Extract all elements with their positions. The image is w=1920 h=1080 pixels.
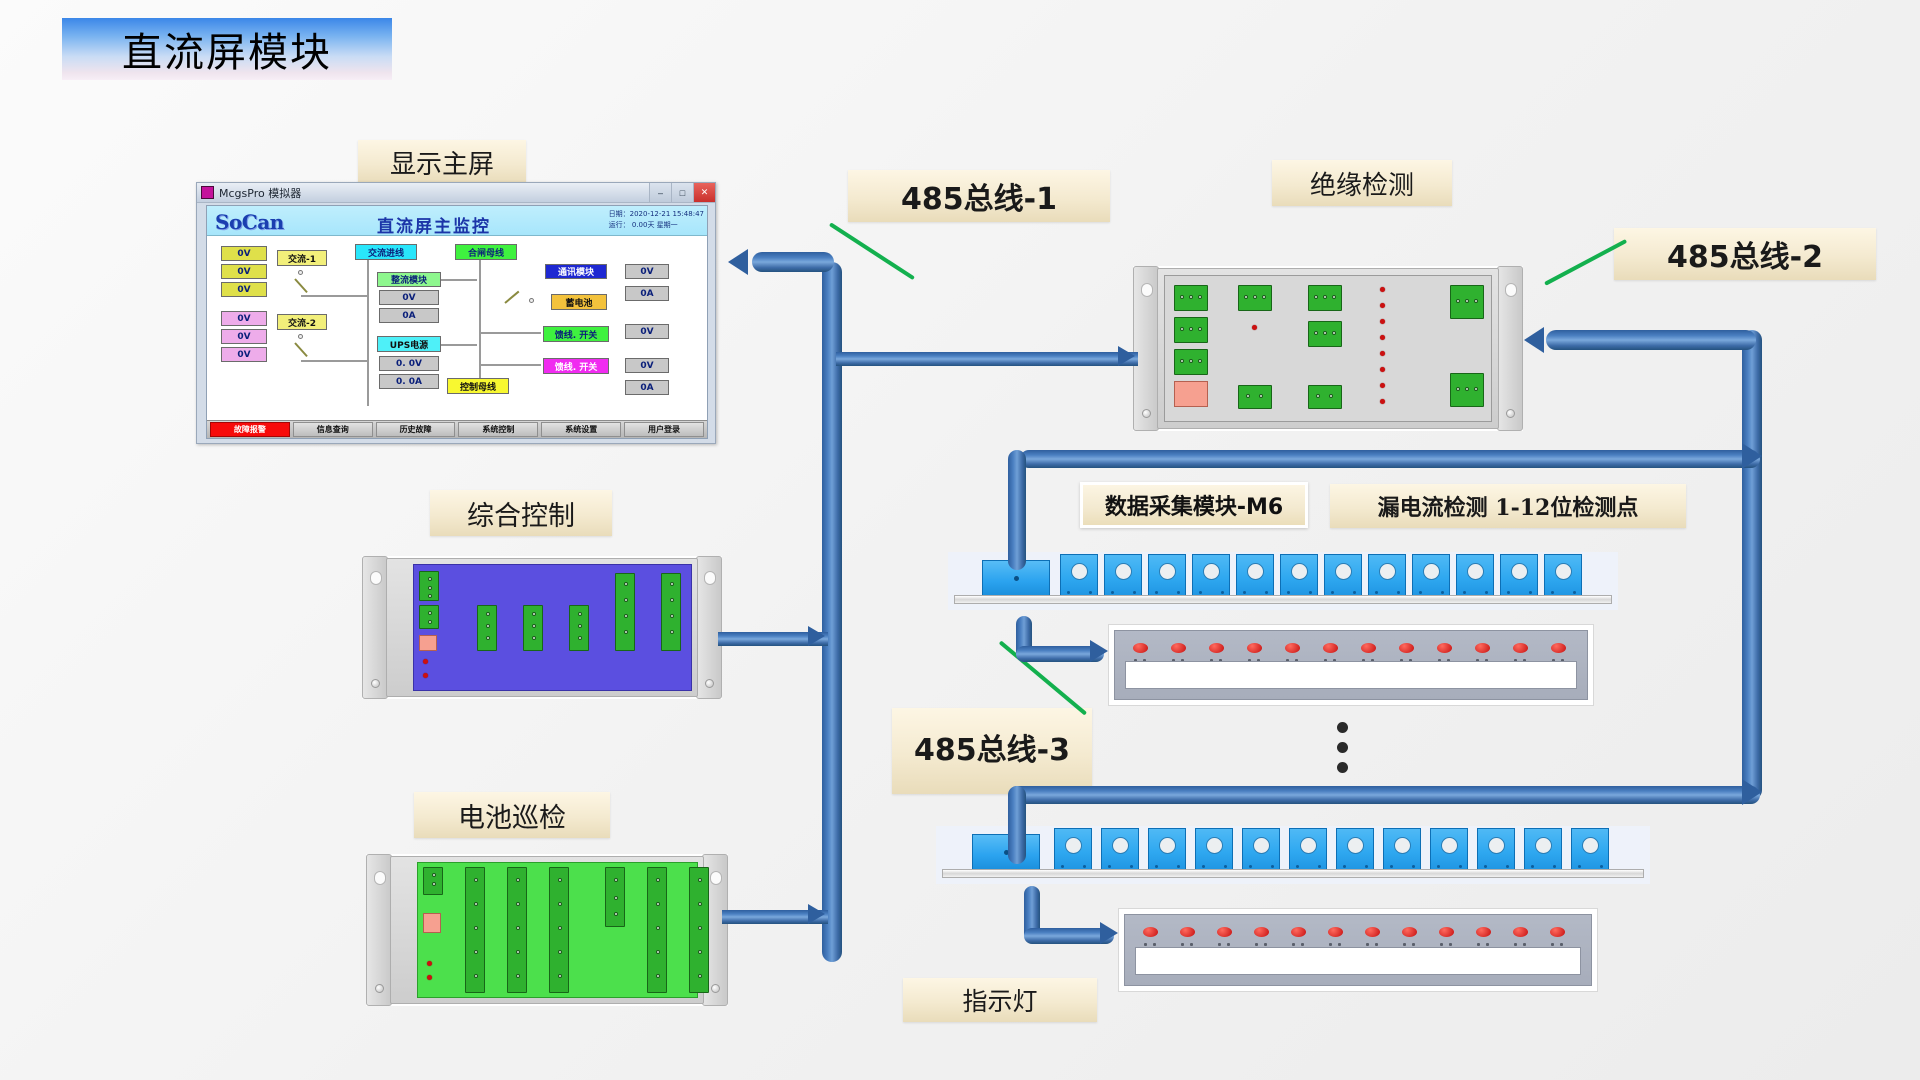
ac2-value-2: 0V — [221, 329, 267, 344]
rack-ear-left — [366, 854, 392, 1006]
terminal-block — [1238, 385, 1272, 409]
bus-2-trunk — [1742, 330, 1762, 800]
ac2-switch-pivot — [298, 334, 303, 339]
ac1-value-1: 0V — [221, 246, 267, 261]
ct-foot — [1133, 591, 1136, 594]
rack-ear-left — [362, 556, 388, 699]
ct-sensor[interactable] — [1101, 828, 1139, 872]
bus-1-arrow-insulation — [1118, 346, 1135, 366]
status-led — [1380, 319, 1385, 324]
hmi-window-title: McgsPro 模拟器 — [219, 185, 301, 201]
ct-sensor-aperture — [1555, 563, 1572, 580]
terminal-block — [1450, 285, 1484, 319]
ac-incoming-label: 交流进线 — [355, 244, 417, 260]
led-marker — [1144, 943, 1147, 946]
ct-sensor-aperture — [1112, 837, 1129, 854]
caption-insulation: 绝缘检测 — [1272, 160, 1452, 206]
ct-foot — [1529, 591, 1532, 594]
ct-foot — [1287, 591, 1290, 594]
bus-2-to-insulation — [1546, 330, 1756, 350]
terminal-block — [1174, 349, 1208, 375]
ct-foot — [1108, 865, 1111, 868]
status-led — [1380, 335, 1385, 340]
label-strip — [1125, 661, 1577, 689]
terminal-block — [569, 605, 589, 651]
status-led — [1380, 383, 1385, 388]
ct-foot — [1506, 865, 1509, 868]
ct-sensor-aperture — [1115, 563, 1132, 580]
bus-1-trunk — [822, 262, 842, 962]
ct-sensor-aperture — [1291, 563, 1308, 580]
closing-bus-line — [479, 260, 481, 378]
ct-foot — [1419, 591, 1422, 594]
feeder-switch-2-label: 馈线. 开关 — [543, 358, 609, 374]
tab-system-control[interactable]: 系统控制 — [458, 422, 538, 437]
led-marker — [1514, 943, 1517, 946]
ct-foot — [1249, 865, 1252, 868]
ct-sensor[interactable] — [1430, 828, 1468, 872]
close-icon[interactable]: ✕ — [693, 183, 715, 202]
ct-sensor-aperture — [1488, 837, 1505, 854]
control-rack-body — [386, 558, 698, 697]
ct-sensor[interactable] — [1104, 554, 1142, 598]
battery-switch-blade — [504, 291, 519, 304]
led-marker — [1477, 943, 1480, 946]
ct-foot — [1484, 865, 1487, 868]
dip-switch[interactable] — [423, 913, 441, 933]
ct-sensor[interactable] — [1148, 554, 1186, 598]
ct-foot — [1365, 865, 1368, 868]
ct-foot — [1343, 865, 1346, 868]
ct-sensor[interactable] — [1236, 554, 1274, 598]
terminal-block — [661, 573, 681, 651]
led-marker — [1560, 943, 1563, 946]
led-panel-face — [1124, 914, 1592, 986]
led-marker — [1440, 943, 1443, 946]
led-marker — [1486, 943, 1489, 946]
tab-user-login[interactable]: 用户登录 — [624, 422, 704, 437]
ups-current: 0. 0A — [379, 374, 439, 389]
ct-foot — [1177, 591, 1180, 594]
led-marker — [1218, 943, 1221, 946]
din-rail — [954, 595, 1612, 604]
right-value-5: 0A — [625, 380, 669, 395]
insulation-rack-body — [1157, 268, 1499, 429]
battery-inspection-module[interactable] — [366, 854, 728, 1006]
ct-sensor-aperture — [1582, 837, 1599, 854]
ups-label: UPS电源 — [377, 336, 441, 352]
ct-foot — [1221, 591, 1224, 594]
terminal-block — [477, 605, 497, 651]
ct-foot — [1573, 591, 1576, 594]
ct-foot — [1441, 591, 1444, 594]
indicator-led — [1437, 643, 1452, 653]
ac1-value-2: 0V — [221, 264, 267, 279]
ct-sensor[interactable] — [1054, 828, 1092, 872]
status-led — [423, 659, 428, 664]
feeder-switch-1-label: 馈线. 开关 — [543, 326, 609, 342]
indicator-led-panel-bottom — [1118, 908, 1598, 992]
ac1-switch-pivot — [298, 270, 303, 275]
ct-sensor-aperture — [1159, 563, 1176, 580]
feeder-1-wire — [479, 332, 541, 334]
battery-rack-body — [390, 856, 704, 1004]
ct-foot — [1463, 591, 1466, 594]
terminal-block — [1174, 317, 1208, 343]
indicator-led — [1171, 643, 1186, 653]
ct-sensor[interactable] — [1242, 828, 1280, 872]
indicator-led — [1402, 927, 1417, 937]
ct-foot — [1437, 865, 1440, 868]
tab-info-query[interactable]: 信息查询 — [293, 422, 373, 437]
terminal-block — [615, 573, 635, 651]
app-icon — [201, 186, 214, 199]
ct-sensor-aperture — [1247, 563, 1264, 580]
caption-bus-3: 485总线-3 — [892, 708, 1092, 794]
indicator-led — [1476, 927, 1491, 937]
bus-2-drop-bottom — [1008, 786, 1026, 864]
ct-foot — [1271, 865, 1274, 868]
indicator-led — [1365, 927, 1380, 937]
status-led — [1380, 367, 1385, 372]
label-strip — [1135, 947, 1581, 975]
control-bus-label: 控制母线 — [447, 378, 509, 394]
status-led — [423, 673, 428, 678]
hmi-header: SoCan 直流屏主监控 日期：2020-12-21 15:48:47 运行： … — [207, 206, 707, 236]
hmi-window[interactable]: McgsPro 模拟器 – □ ✕ SoCan 直流屏主监控 日期：2020-1… — [196, 182, 716, 444]
indicator-led — [1285, 643, 1300, 653]
tab-fault-alarm[interactable]: 故障报警 — [210, 422, 290, 437]
led-marker — [1403, 943, 1406, 946]
ct-sensor[interactable] — [1544, 554, 1582, 598]
led-marker — [1264, 943, 1267, 946]
ct-foot — [1296, 865, 1299, 868]
dip-switch[interactable] — [419, 635, 437, 651]
battery-label: 蓄电池 — [551, 294, 607, 310]
hmi-date-line: 日期：2020-12-21 15:48:47 — [609, 209, 704, 220]
indicator-led — [1180, 927, 1195, 937]
hmi-titlebar: McgsPro 模拟器 – □ ✕ — [197, 183, 715, 203]
ups-out-wire — [441, 344, 477, 346]
ct-sensor-aperture — [1467, 563, 1484, 580]
rectifier-current: 0A — [379, 308, 439, 323]
comm-module-label: 通讯模块 — [545, 264, 607, 279]
terminal-block — [1174, 285, 1208, 311]
rectifier-voltage: 0V — [379, 290, 439, 305]
terminal-block — [605, 867, 625, 927]
rack-ear-right — [696, 556, 722, 699]
ct-sensor-aperture — [1511, 563, 1528, 580]
ct-foot — [1265, 591, 1268, 594]
ct-foot — [1202, 865, 1205, 868]
led-marker — [1551, 943, 1554, 946]
led-marker — [1412, 943, 1415, 946]
ct-sensor[interactable] — [1524, 828, 1562, 872]
status-led — [1380, 399, 1385, 404]
tab-system-settings[interactable]: 系统设置 — [541, 422, 621, 437]
ct-sensor[interactable] — [1060, 554, 1098, 598]
ct-foot — [1331, 591, 1334, 594]
ct-sensor[interactable] — [1412, 554, 1450, 598]
status-led — [1380, 303, 1385, 308]
right-value-4: 0V — [625, 358, 669, 373]
ct-sensor[interactable] — [1571, 828, 1609, 872]
status-led — [1252, 325, 1257, 330]
led-marker — [1190, 943, 1193, 946]
ac1-wire — [301, 295, 367, 297]
ct-sensor-rail-top — [948, 552, 1618, 610]
indicator-led — [1143, 927, 1158, 937]
indicator-led — [1513, 643, 1528, 653]
status-led — [1380, 351, 1385, 356]
bus-2-arrow-bottom — [1742, 779, 1762, 805]
ct-foot — [1089, 591, 1092, 594]
ct-foot — [1390, 865, 1393, 868]
ct-sensor-aperture — [1300, 837, 1317, 854]
hmi-main-title: 直流屏主监控 — [377, 212, 491, 237]
ct-foot — [1507, 591, 1510, 594]
terminal-block — [419, 571, 439, 601]
terminal-block — [523, 605, 543, 651]
right-value-3: 0V — [625, 324, 669, 339]
indicator-led — [1133, 643, 1148, 653]
indicator-led — [1209, 643, 1224, 653]
ac2-wire — [301, 360, 367, 362]
ct-sensor-aperture — [1203, 563, 1220, 580]
din-rail — [942, 869, 1644, 878]
led-marker — [1301, 943, 1304, 946]
hmi-run-line: 运行： 0.00天 星期一 — [609, 220, 704, 231]
ct-sensor[interactable] — [1500, 554, 1538, 598]
bus-3-arrow-top — [1090, 640, 1108, 662]
ct-sensor[interactable] — [1477, 828, 1515, 872]
ct-sensor[interactable] — [1280, 554, 1318, 598]
ct-sensor[interactable] — [1324, 554, 1362, 598]
terminal-block — [1308, 285, 1342, 311]
indicator-led — [1551, 643, 1566, 653]
ac-incoming-bus — [367, 260, 369, 406]
terminal-block — [1308, 385, 1342, 409]
indicator-led — [1323, 643, 1338, 653]
caption-indicator-light: 指示灯 — [903, 978, 1097, 1022]
indicator-led — [1328, 927, 1343, 937]
ct-sensor[interactable] — [1456, 554, 1494, 598]
ups-voltage: 0. 0V — [379, 356, 439, 371]
ct-sensor[interactable] — [1289, 828, 1327, 872]
terminal-block — [465, 867, 485, 993]
ct-sensor-aperture — [1065, 837, 1082, 854]
terminal-block — [423, 867, 443, 895]
battery-arrow — [808, 904, 825, 924]
ct-sensor-rail-bottom — [936, 826, 1650, 884]
ct-foot — [1459, 865, 1462, 868]
ct-foot — [1318, 865, 1321, 868]
indicator-led — [1439, 927, 1454, 937]
terminal-block — [1308, 321, 1342, 347]
ct-foot — [1375, 591, 1378, 594]
ct-foot — [1061, 865, 1064, 868]
hmi-screen: SoCan 直流屏主监控 日期：2020-12-21 15:48:47 运行： … — [206, 205, 708, 439]
ct-sensor[interactable] — [1148, 828, 1186, 872]
window-controls: – □ ✕ — [649, 183, 715, 202]
ct-foot — [1177, 865, 1180, 868]
hmi-tab-bar: 故障报警 信息查询 历史故障 系统控制 系统设置 用户登录 — [207, 420, 707, 438]
ct-foot — [1397, 591, 1400, 594]
led-marker — [1375, 943, 1378, 946]
ct-foot — [1067, 591, 1070, 594]
control-module-faceplate — [413, 564, 692, 691]
indicator-led-panel-top — [1108, 624, 1594, 706]
terminal-block — [647, 867, 667, 993]
status-led — [1380, 287, 1385, 292]
ac1-switch-blade — [294, 278, 308, 293]
integrated-control-module[interactable] — [362, 556, 722, 699]
socan-logo: SoCan — [215, 210, 284, 234]
indicator-led — [1217, 927, 1232, 937]
terminal-block — [549, 867, 569, 993]
ct-foot — [1111, 591, 1114, 594]
indicator-led — [1247, 643, 1262, 653]
maximize-button[interactable]: □ — [671, 183, 693, 202]
ct-foot — [1083, 865, 1086, 868]
page-title-text: 直流屏模块 — [122, 20, 332, 78]
ct-sensor-aperture — [1253, 837, 1270, 854]
indicator-led — [1399, 643, 1414, 653]
led-marker — [1227, 943, 1230, 946]
status-led — [427, 961, 432, 966]
terminal-block — [507, 867, 527, 993]
ct-sensor[interactable] — [1192, 554, 1230, 598]
ct-foot — [1600, 865, 1603, 868]
ct-sensor-aperture — [1159, 837, 1176, 854]
led-marker — [1523, 943, 1526, 946]
ac2-value-1: 0V — [221, 311, 267, 326]
led-marker — [1366, 943, 1369, 946]
repeat-ellipsis — [1337, 722, 1348, 773]
terminal-block — [1238, 285, 1272, 311]
led-panel-face — [1114, 630, 1588, 700]
battery-switch-pivot — [529, 298, 534, 303]
ac2-label: 交流-2 — [277, 314, 327, 330]
bus-1-arrow-hmi — [728, 249, 748, 275]
tab-fault-history[interactable]: 历史故障 — [376, 422, 456, 437]
terminal-block — [689, 867, 709, 993]
terminal-block — [1450, 373, 1484, 407]
ct-sensor-aperture — [1423, 563, 1440, 580]
ct-foot — [1553, 865, 1556, 868]
indicator-led — [1513, 927, 1528, 937]
bus-2-branch-top — [1020, 450, 1760, 468]
led-marker — [1338, 943, 1341, 946]
led-marker — [1181, 943, 1184, 946]
bus-2-branch-bottom — [1008, 786, 1760, 804]
callout-leakage-detection: 漏电流检测 1-12位检测点 — [1330, 484, 1686, 528]
ct-foot — [1155, 865, 1158, 868]
ct-foot — [1224, 865, 1227, 868]
control-arrow — [808, 626, 825, 646]
right-value-1: 0V — [625, 264, 669, 279]
ct-sensor[interactable] — [1383, 828, 1421, 872]
ct-foot — [1199, 591, 1202, 594]
hmi-clock: 日期：2020-12-21 15:48:47 运行： 0.00天 星期一 — [609, 209, 704, 231]
caption-display-main: 显示主屏 — [358, 140, 526, 184]
closing-bus-label: 合闸母线 — [455, 244, 517, 260]
rectifier-module-label: 整流模块 — [377, 272, 441, 287]
status-led — [427, 975, 432, 980]
caption-integrated-control: 综合控制 — [430, 490, 612, 536]
rectifier-out-wire — [441, 279, 477, 281]
feeder-2-wire — [479, 364, 541, 366]
ct-foot — [1531, 865, 1534, 868]
ct-foot — [1412, 865, 1415, 868]
ct-foot — [1243, 591, 1246, 594]
ct-sensor-aperture — [1347, 837, 1364, 854]
ct-sensor[interactable] — [1336, 828, 1374, 872]
slide-canvas: 直流屏模块 显示主屏 绝缘检测 综合控制 电池巡检 485总线-1 485总线-… — [0, 0, 1920, 1080]
bus-2-arrow-top — [1742, 443, 1762, 469]
rack-ear-left — [1133, 266, 1159, 431]
terminal-block — [419, 605, 439, 629]
ct-foot — [1578, 865, 1581, 868]
right-value-2: 0A — [625, 286, 669, 301]
ac2-value-3: 0V — [221, 347, 267, 362]
led-marker — [1292, 943, 1295, 946]
ct-sensor[interactable] — [1368, 554, 1406, 598]
caption-battery-inspection: 电池巡检 — [414, 792, 610, 838]
indicator-led — [1291, 927, 1306, 937]
callout-daq-module: 数据采集模块-M6 — [1080, 482, 1308, 528]
bus-2-arrow-insulation — [1524, 327, 1544, 353]
led-marker — [1449, 943, 1452, 946]
indicator-led — [1361, 643, 1376, 653]
led-marker — [1153, 943, 1156, 946]
ac2-switch-blade — [294, 342, 308, 357]
bus-1-to-insulation — [836, 352, 1138, 366]
indicator-led — [1254, 927, 1269, 937]
page-title: 直流屏模块 — [62, 18, 392, 80]
caption-bus-2: 485总线-2 — [1614, 228, 1876, 280]
ct-foot — [1130, 865, 1133, 868]
ac1-value-3: 0V — [221, 282, 267, 297]
ct-foot — [1551, 591, 1554, 594]
minimize-button[interactable]: – — [649, 183, 671, 202]
ct-sensor-aperture — [1441, 837, 1458, 854]
daq-module-m6-bottom[interactable] — [972, 834, 1040, 870]
ct-sensor-aperture — [1394, 837, 1411, 854]
led-marker — [1329, 943, 1332, 946]
ct-foot — [1155, 591, 1158, 594]
ct-sensor[interactable] — [1195, 828, 1233, 872]
dip-switch[interactable] — [1174, 381, 1208, 407]
bus-2-drop-top — [1008, 450, 1026, 570]
ct-foot — [1485, 591, 1488, 594]
ct-sensor-aperture — [1535, 837, 1552, 854]
ct-sensor-aperture — [1071, 563, 1088, 580]
indicator-led — [1475, 643, 1490, 653]
ct-foot — [1309, 591, 1312, 594]
caption-bus-1: 485总线-1 — [848, 170, 1110, 222]
ac1-label: 交流-1 — [277, 250, 327, 266]
led-marker — [1255, 943, 1258, 946]
ct-sensor-aperture — [1379, 563, 1396, 580]
ct-foot — [1353, 591, 1356, 594]
bus-1-to-hmi — [752, 252, 834, 272]
ct-sensor-aperture — [1206, 837, 1223, 854]
indicator-led — [1550, 927, 1565, 937]
rack-ear-right — [1497, 266, 1523, 431]
insulation-detection-module[interactable] — [1133, 266, 1523, 431]
ct-sensor-aperture — [1335, 563, 1352, 580]
